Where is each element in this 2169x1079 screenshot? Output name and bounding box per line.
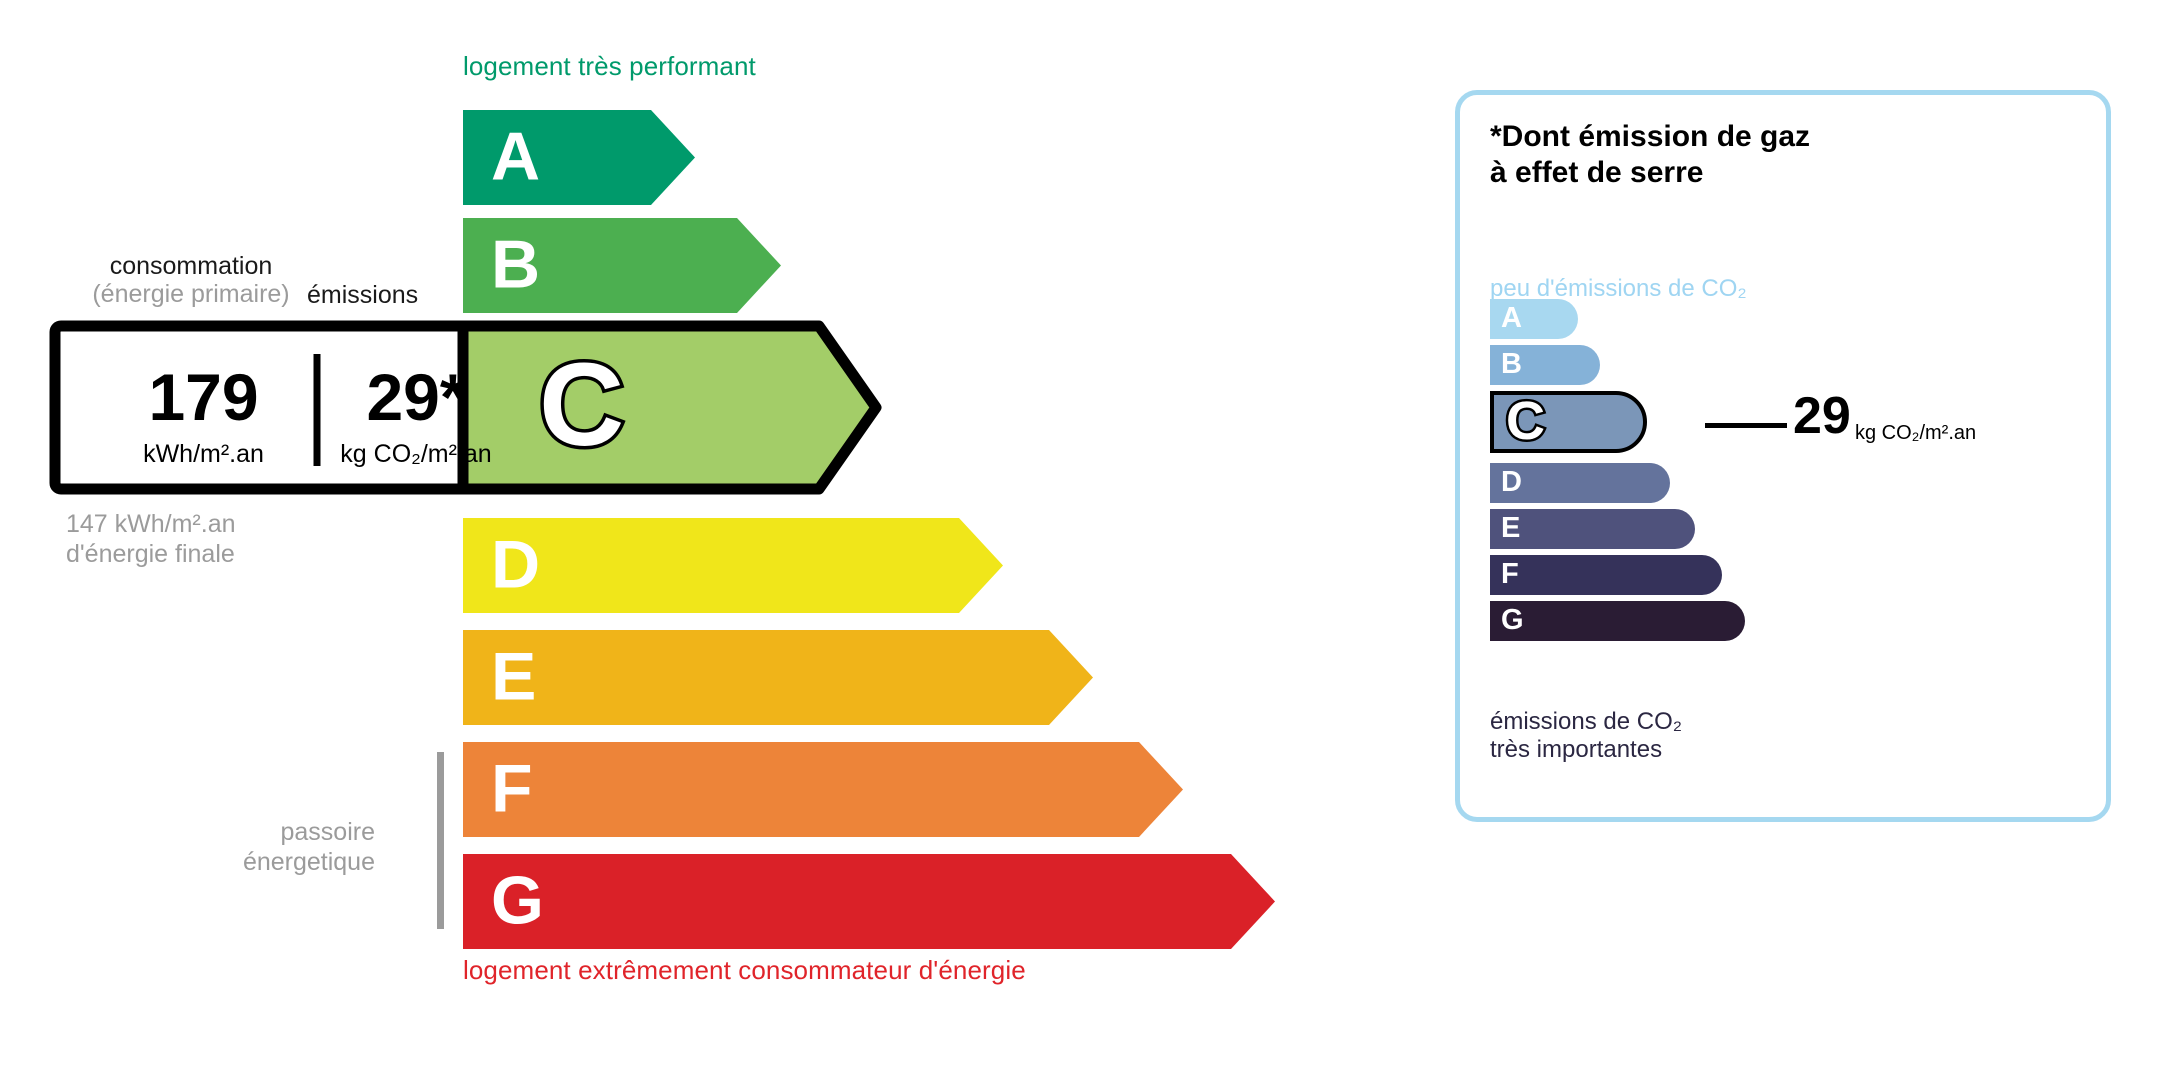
ges-bar-d: D — [1490, 463, 1670, 503]
ges-bar-c-current: C — [1490, 391, 1647, 453]
ges-panel-title: *Dont émission de gaz à effet de serre — [1490, 119, 1810, 191]
ges-bar-b: B — [1490, 345, 1600, 385]
ges-title-line2: à effet de serre — [1490, 156, 1703, 189]
energy-bar-e-letter: E — [491, 642, 536, 710]
current-primary-value: 179 — [95, 364, 312, 430]
final-energy-note: 147 kWh/m².an d'énergie finale — [66, 510, 236, 569]
energy-bar-e-shape: E — [463, 630, 1093, 725]
energy-bar-g-letter: G — [491, 866, 544, 934]
ges-bar-e-letter: E — [1501, 514, 1520, 543]
final-energy-label: d'énergie finale — [66, 540, 235, 568]
scale-bottom-caption: logement extrêmement consommateur d'éner… — [463, 955, 1026, 986]
passoire-label-line2: énergetique — [243, 848, 375, 876]
ges-leader-line — [1705, 423, 1787, 428]
energy-bar-d-letter: D — [491, 530, 540, 598]
energy-bar-a: A — [463, 110, 695, 205]
ges-bar-d-letter: D — [1501, 468, 1522, 497]
energy-bar-d: D — [463, 518, 1003, 613]
current-ges-unit: kg CO₂/m².an — [322, 442, 510, 467]
ges-title-line1: *Dont émission de gaz — [1490, 120, 1810, 153]
ges-bar-f: F — [1490, 555, 1722, 595]
ges-bar-g: G — [1490, 601, 1745, 641]
passoire-label: passoire énergetique — [180, 818, 375, 877]
energy-bar-b-shape: B — [463, 218, 781, 313]
current-class-row: 179 kWh/m².an 29* kg CO₂/m².an C — [49, 320, 882, 495]
ges-panel: *Dont émission de gaz à effet de serre p… — [1455, 90, 2111, 822]
ges-bar-f-letter: F — [1501, 560, 1519, 589]
energy-bar-f-shape: F — [463, 742, 1183, 837]
ges-bottom-caption: émissions de CO₂ très importantes — [1490, 708, 1682, 765]
current-ges-value: 29* — [322, 364, 510, 430]
energy-bar-b: B — [463, 218, 781, 313]
current-primary-unit: kWh/m².an — [95, 442, 312, 467]
passoire-label-line1: passoire — [281, 818, 376, 846]
current-class-letter: C — [539, 346, 624, 464]
ges-bar-e: E — [1490, 509, 1695, 549]
ges-bar-a-letter: A — [1501, 304, 1522, 333]
ges-bar-b-letter: B — [1501, 350, 1522, 379]
ges-bottom-caption-line2: très importantes — [1490, 736, 1662, 763]
ges-value: 29 — [1793, 390, 1851, 442]
energy-bar-a-shape: A — [463, 110, 695, 205]
energy-bar-f-letter: F — [491, 754, 533, 822]
ges-bar-list: A B C D E F G — [1490, 299, 1745, 647]
energy-bar-f: F — [463, 742, 1183, 837]
energy-scale-panel: logement très performant consommation (é… — [0, 0, 1400, 1079]
ges-bar-a: A — [1490, 299, 1578, 339]
ges-bottom-caption-line1: émissions de CO₂ — [1490, 708, 1682, 735]
energy-bar-a-letter: A — [491, 122, 540, 190]
energy-bar-e: E — [463, 630, 1093, 725]
final-energy-value: 147 kWh/m².an — [66, 510, 236, 538]
energy-bar-b-letter: B — [491, 230, 540, 298]
energy-bar-d-shape: D — [463, 518, 1003, 613]
ges-bar-c-letter: C — [1506, 394, 1545, 448]
ges-bar-g-letter: G — [1501, 606, 1524, 635]
ges-unit: kg CO₂/m².an — [1855, 423, 1976, 443]
passoire-bracket-line — [437, 752, 444, 929]
energy-bar-g-shape: G — [463, 854, 1275, 949]
energy-bar-g: G — [463, 854, 1275, 949]
